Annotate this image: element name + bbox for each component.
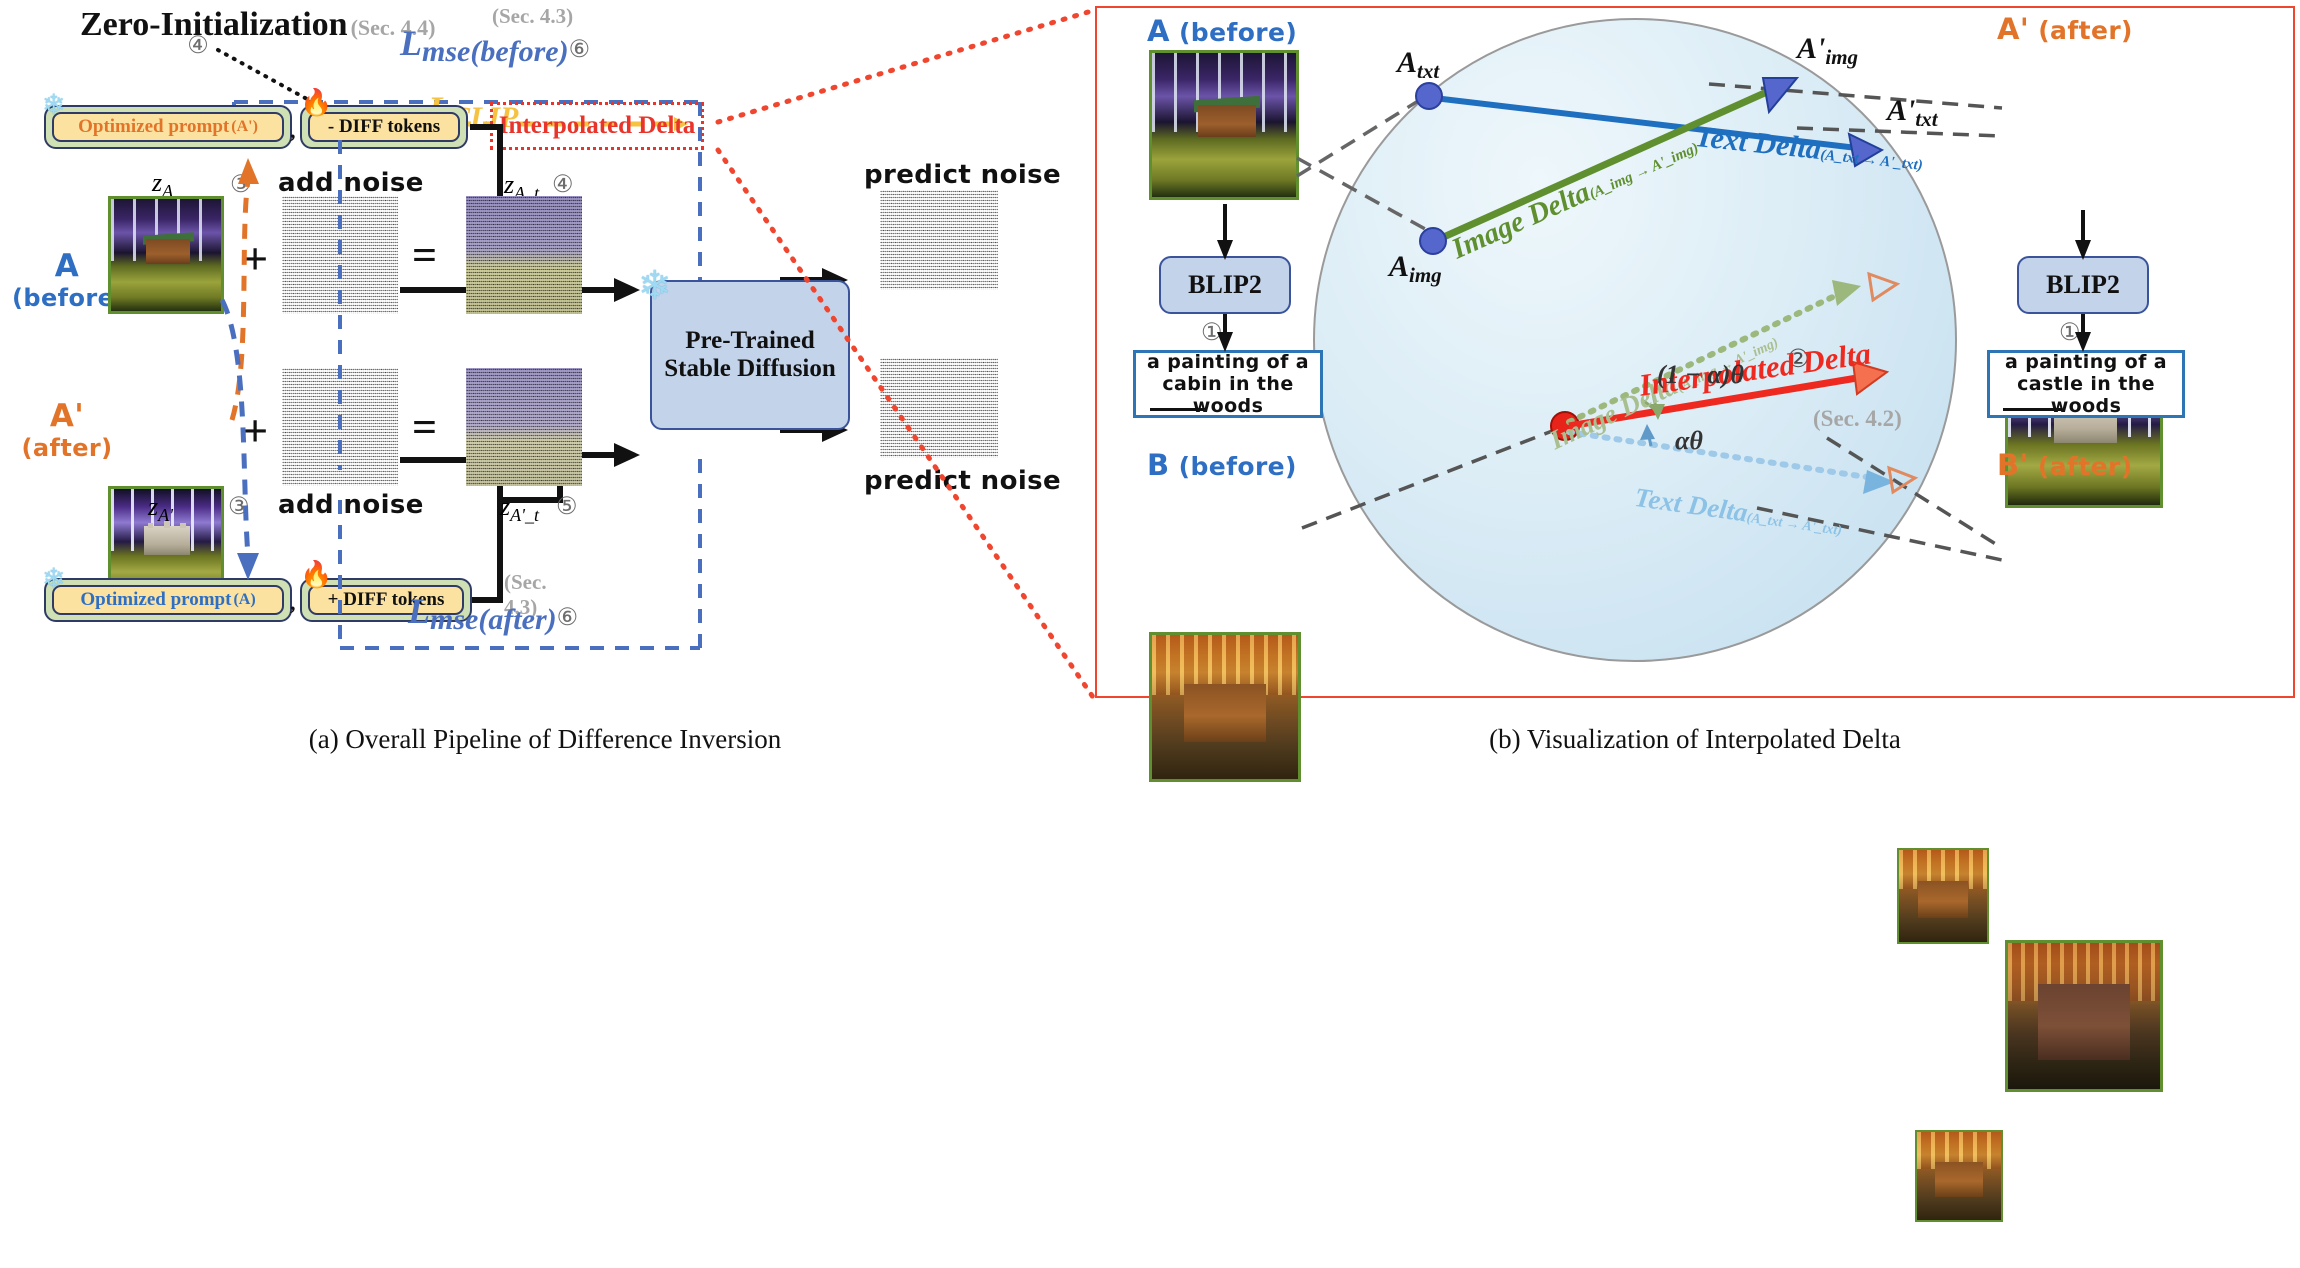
caption-left-line1: a painting of a [1147,351,1309,373]
caption-a: (a) Overall Pipeline of Difference Inver… [0,724,1090,755]
mse-before-L: L [400,23,422,63]
panel-b-aprime-title-main: A' [1997,12,2029,46]
snowflake-icon: ❄ [42,562,65,596]
snowflake-icon: ❄ [638,262,672,309]
optimized-prompt-top-text: Optimized prompt [78,116,229,138]
step-circle-row2: ③ [228,492,250,521]
panel-b-a-title-main: A [1147,14,1170,48]
noise-tint [466,368,582,486]
label-a-txt-sub: txt [1417,59,1439,83]
painting-tower [148,523,154,528]
blip2-box-left: BLIP2 [1159,256,1291,314]
add-noise-label-row1: add noise [278,168,424,198]
stable-diffusion-box: Pre-Trained Stable Diffusion [650,280,850,430]
snowflake-icon: ❄ [42,88,65,122]
label-a-txt: Atxt [1397,46,1439,80]
row-label-a-sub: (before) [12,284,122,312]
panel-b-image-bprime [2005,940,2163,1092]
latent-zaprime-sub: A' [158,505,173,525]
panel-b-image-a [1149,50,1299,200]
panel-b: A (before) BLIP2 ① a painting of a cabin… [1095,6,2295,698]
optimized-prompt-top-tag: (A') [231,118,258,136]
caption-left-underline [1150,408,1206,411]
thumb-interp-autumn-cabin [1897,848,1989,944]
label-a-img-main: A [1389,250,1409,283]
latent-zaprime-main: z [148,492,158,521]
label-aprime-img-sub: img [1825,45,1858,69]
panel-b-bprime-title: B' (after) [1997,448,2133,482]
panel-b-bprime-title-main: B' [1997,448,2029,482]
optimized-prompt-bottom-tag: (A) [233,591,255,609]
sd-line1: Pre-Trained [685,327,815,355]
noise-tint [466,196,582,314]
panel-a: Zero-Initialization(Sec. 4.4) ④ (Sec. 4.… [0,0,1090,720]
equals-row1: = [412,230,437,281]
prompt-box-bottom[interactable]: Optimized prompt(A) [44,578,292,622]
painting-tower [180,523,186,528]
label-aprime-txt-sub: txt [1915,107,1937,131]
mse-before-step: ⑥ [569,37,591,63]
predict-noise-label-row1: predict noise [864,160,1061,190]
painting-cabin [146,239,190,264]
blip2-left-label: BLIP2 [1188,270,1262,300]
optimized-prompt-top[interactable]: Optimized prompt(A') [52,112,284,142]
mse-after-step: ⑥ [557,605,579,631]
row-label-aprime: A' (after) [12,398,122,462]
add-noise-label-row2: add noise [278,490,424,520]
thumb-text-delta-autumn [1915,1130,2003,1222]
panel-b-b-title-main: B [1147,448,1170,482]
label-a-txt-main: A [1397,46,1417,79]
mse-before-section: (Sec. 4.3) [492,4,573,29]
interpolated-delta-label: Interpolated Delta [499,112,696,140]
mse-after-sub: mse(after) [430,603,557,636]
latent-label-zaprimet: zA'_t [500,492,539,522]
latent-za-main: z [152,168,162,197]
fire-icon: 🔥 [300,88,332,118]
noisy-latent-row2 [466,368,582,486]
noisy-latent-row1 [466,196,582,314]
latent-zaprimet-main: z [500,492,510,521]
painting-castle [2038,984,2129,1060]
prompt-top-comma: , [290,118,296,144]
latent-zaprimet-sub: A'_t [510,505,539,525]
optimized-prompt-bottom[interactable]: Optimized prompt(A) [52,585,284,615]
row-label-a-main: A [12,248,122,284]
noisy-step-row2: ⑤ [556,492,578,521]
painting-cabin [1918,881,1967,918]
predicted-noise-row2 [880,358,998,458]
painting-cabin [1935,1162,1982,1197]
caption-right-underline [2003,408,2061,411]
label-aprime-img: A'img [1797,32,1858,66]
label-aprime-txt-main: A' [1887,94,1915,127]
panel-b-bprime-title-sub: (after) [2038,452,2133,481]
latent-label-zaprime: zA' [148,492,173,522]
angle-lower-label: αθ [1675,426,1703,456]
zero-initialization-title: Zero-Initialization(Sec. 4.4) [80,6,436,44]
blip2-left-step: ① [1201,318,1223,347]
panel-b-image-b [1149,632,1301,782]
row-label-aprime-main: A' [12,398,122,434]
caption-b: (b) Visualization of Interpolated Delta [1095,724,2295,755]
panel-b-b-title-sub: (before) [1179,452,1297,481]
equals-row2: = [412,402,437,453]
zero-init-label: Zero-Initialization [80,6,348,43]
sd-line2: Stable Diffusion [664,355,836,383]
optimized-prompt-bottom-text: Optimized prompt [80,589,231,611]
row-label-a: A (before) [12,248,122,312]
fire-icon: 🔥 [300,560,332,590]
step-circle-row1: ③ [230,170,252,199]
plus-row2: + [242,404,268,457]
label-a-img: Aimg [1389,250,1442,284]
blip2-box-right: BLIP2 [2017,256,2149,314]
label-aprime-img-main: A' [1797,32,1825,65]
mse-before-sub: mse(before) [422,35,569,68]
noisy-step-row1: ④ [552,170,574,199]
row-label-aprime-sub: (after) [12,434,122,462]
noise-tile-row2 [282,368,398,486]
image-a-before [108,196,224,314]
label-a-img-sub: img [1409,263,1442,287]
noise-tile-row1 [282,196,398,314]
angle-upper-label: (1 − α)θ [1657,360,1744,390]
mse-after-L: L [408,591,430,631]
label-aprime-txt: A'txt [1887,94,1938,128]
panel-b-a-title: A (before) [1147,14,1297,48]
blip2-right-label: BLIP2 [2046,270,2120,300]
plus-row1: + [242,232,268,285]
prompt-box-top[interactable]: Optimized prompt(A') [44,105,292,149]
diff-tokens-top-text: - DIFF tokens [328,116,440,138]
interpolated-delta-section: (Sec. 4.2) [1813,406,1902,432]
caption-right-line1: a painting of a [2005,351,2167,373]
figure-root: Zero-Initialization(Sec. 4.4) ④ (Sec. 4.… [0,0,2300,776]
loss-mse-before: (Sec. 4.3) Lmse(before)⑥ [400,22,590,64]
panel-b-aprime-title: A' (after) [1997,12,2133,46]
painting-castle [144,526,190,555]
predict-noise-label-row2: predict noise [864,466,1061,496]
latent-label-za: zA [152,168,173,198]
loss-mse-after: (Sec. 4.3) Lmse(after)⑥ [408,590,578,632]
prompt-bottom-comma: , [290,590,296,616]
panel-b-b-title: B (before) [1147,448,1297,482]
panel-b-a-title-sub: (before) [1179,18,1297,47]
predicted-noise-row1 [880,190,998,290]
blip2-right-step: ① [2059,318,2081,347]
interpolated-delta-box: Interpolated Delta [490,102,704,150]
panel-b-aprime-title-sub: (after) [2038,16,2133,45]
painting-cabin [1198,105,1256,137]
latent-zat-main: z [504,170,514,199]
